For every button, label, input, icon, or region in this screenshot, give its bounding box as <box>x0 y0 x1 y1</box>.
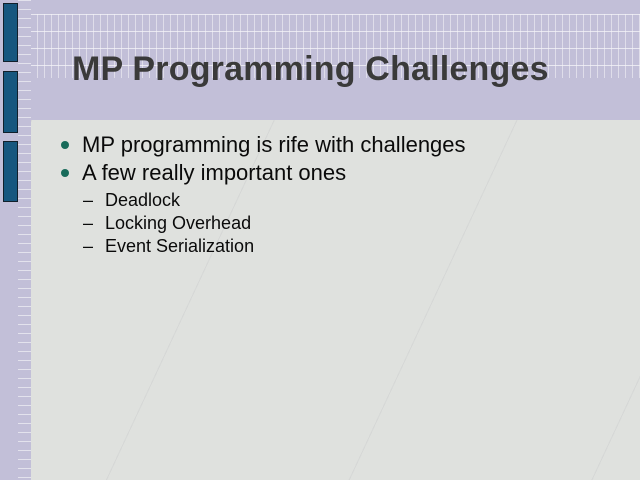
bullet-text: A few really important ones <box>82 160 346 185</box>
decorative-blue-bar-1 <box>3 3 18 62</box>
bullet-dot-icon <box>61 141 69 149</box>
list-item: – Locking Overhead <box>81 212 625 235</box>
dash-marker-icon: – <box>83 212 93 235</box>
sub-bullet-text: Event Serialization <box>105 236 254 256</box>
sub-bullet-list: – Deadlock – Locking Overhead – Event Se… <box>55 189 625 258</box>
list-item: – Deadlock <box>81 189 625 212</box>
decorative-blue-bar-3 <box>3 141 18 202</box>
list-item: A few really important ones <box>55 159 625 187</box>
presentation-slide: MP Programming Challenges MP programming… <box>0 0 640 480</box>
bullet-dot-icon <box>61 169 69 177</box>
sub-bullet-text: Locking Overhead <box>105 213 251 233</box>
bullet-text: MP programming is rife with challenges <box>82 132 466 157</box>
list-item: MP programming is rife with challenges <box>55 131 625 159</box>
slide-content-panel: MP programming is rife with challenges A… <box>31 120 640 480</box>
bullet-list: MP programming is rife with challenges A… <box>55 131 625 258</box>
dash-marker-icon: – <box>83 189 93 212</box>
dash-marker-icon: – <box>83 235 93 258</box>
slide-title: MP Programming Challenges <box>72 48 612 90</box>
rail-dot-texture <box>18 0 31 480</box>
sub-bullet-text: Deadlock <box>105 190 180 210</box>
list-item: – Event Serialization <box>81 235 625 258</box>
decorative-blue-bar-2 <box>3 71 18 133</box>
